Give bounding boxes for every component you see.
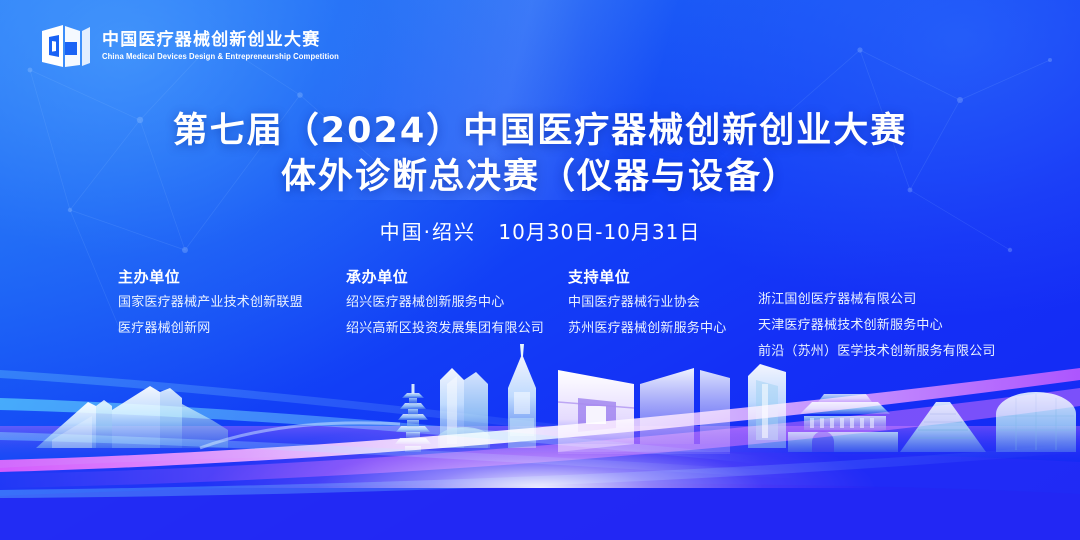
- event-poster: 中国医疗器械创新创业大赛 China Medical Devices Desig…: [0, 0, 1080, 540]
- skyline-svg: [0, 340, 1080, 540]
- event-dates: 10月30日-10月31日: [498, 220, 700, 244]
- organizer-item: 天津医疗器械技术创新服务中心: [758, 319, 1018, 332]
- organizer-item: 绍兴高新区投资发展集团有限公司: [346, 322, 568, 335]
- event-title-line-2: 体外诊断总决赛（仪器与设备）: [0, 154, 1080, 200]
- logo-monument-icon: [558, 368, 730, 454]
- organizer-item: 医疗器械创新网: [118, 322, 346, 335]
- organizer-heading: 主办单位: [118, 266, 346, 287]
- brand-logo: 中国医疗器械创新创业大赛 China Medical Devices Desig…: [40, 22, 349, 70]
- organizer-item: 中国医疗器械行业协会: [568, 296, 758, 309]
- organizer-heading: 支持单位: [568, 266, 758, 287]
- city-skyline-illustration: [0, 340, 1080, 540]
- competition-book-logo-icon: [40, 22, 92, 70]
- title-block: 第七届（2024）中国医疗器械创新创业大赛 体外诊断总决赛（仪器与设备） 中国·…: [0, 108, 1080, 245]
- sail-pavilion-icon: [36, 386, 228, 448]
- dome-arena-icon: [996, 392, 1076, 452]
- event-location: 中国·绍兴: [380, 220, 476, 244]
- pagoda-icon: [395, 384, 431, 452]
- twin-tower-icon: [438, 368, 490, 448]
- organizer-heading: 承办单位: [346, 266, 568, 287]
- organizer-item: 苏州医疗器械创新服务中心: [568, 322, 758, 335]
- organizer-item: 浙江国创医疗器械有限公司: [758, 293, 1018, 306]
- event-title-line-1: 第七届（2024）中国医疗器械创新创业大赛: [0, 108, 1080, 154]
- spire-tower-icon: [508, 344, 536, 448]
- city-gate-icon: [788, 394, 898, 452]
- brand-name-cn: 中国医疗器械创新创业大赛: [102, 32, 349, 49]
- event-subtitle: 中国·绍兴 10月30日-10月31日: [0, 216, 1080, 245]
- glass-tower-icon: [748, 364, 786, 448]
- brand-name-en: China Medical Devices Design & Entrepren…: [102, 53, 339, 61]
- organizer-item: 绍兴医疗器械创新服务中心: [346, 296, 568, 309]
- organizer-item: 国家医疗器械产业技术创新联盟: [118, 296, 346, 309]
